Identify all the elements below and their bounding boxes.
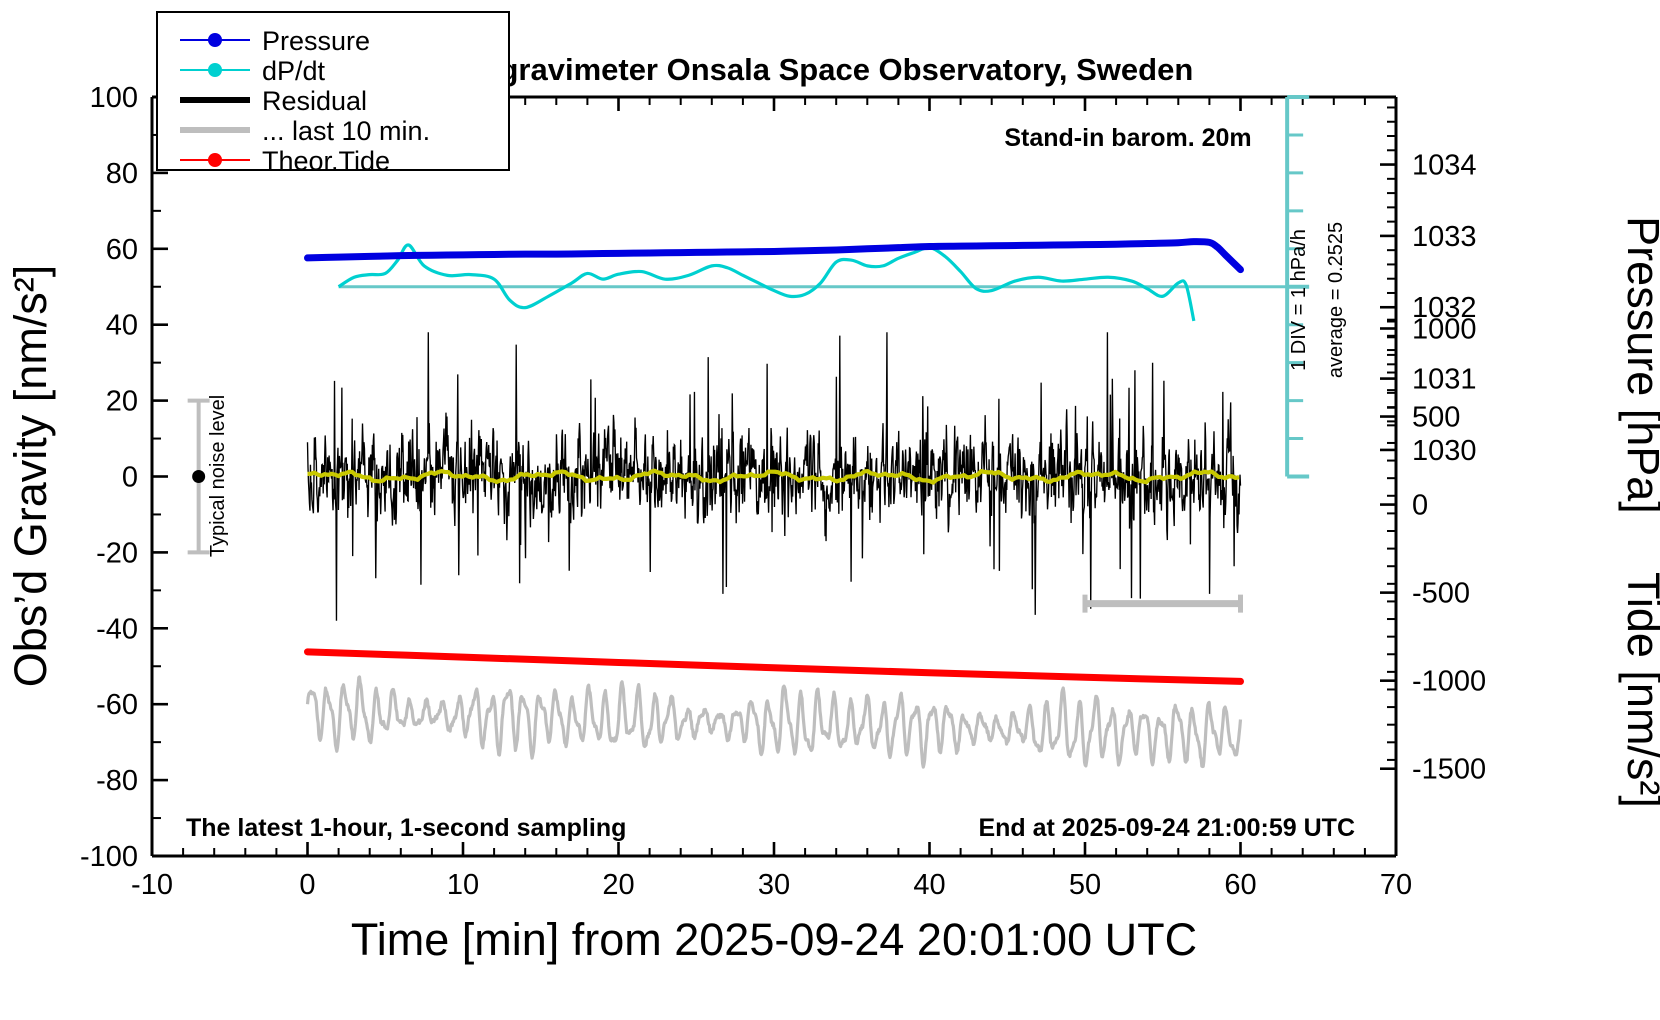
y-right-tide-tick-label: -1000 [1412,666,1486,698]
x-axis-title: Time [min] from 2025-09-24 20:01:00 UTC [351,914,1197,965]
y-left-tick-label: -100 [80,841,138,873]
legend-label: ... last 10 min. [262,116,430,146]
y-left-tick-label: 0 [122,462,138,494]
y-left-tick-label: 20 [106,386,138,418]
y-right-pressure-axis-title: Pressure [hPa] [1618,216,1660,514]
x-tick-label: 0 [299,869,315,901]
y-right-ticks [1380,107,1396,768]
legend-label: Residual [262,86,367,116]
x-tick-label: -10 [131,869,173,901]
last-10-min-span-bar [1085,595,1241,613]
legend-label: Theor.Tide [262,146,390,176]
gravimeter-figure: -10010203040506070 100806040200-20-40-60… [0,0,1660,1020]
x-tick-label: 10 [447,869,479,901]
y-left-tick-label: -60 [96,689,138,721]
data-traces [308,242,1295,768]
y-left-tick-label: 80 [106,158,138,190]
y-left-tick-label: 60 [106,234,138,266]
legend-label: dP/dt [262,56,326,86]
y-right-pressure-tick-label: 1033 [1412,221,1477,253]
plot-canvas: -10010203040506070 100806040200-20-40-60… [0,0,1660,1020]
plot-legend: PressuredP/dtResidual... last 10 min.The… [157,12,509,176]
y-left-tick-label: 100 [90,82,138,114]
x-tick-label: 50 [1069,869,1101,901]
y-right-tide-tick-label: 500 [1412,402,1460,434]
div-scale-annotation: 1 DIV = 1 hPa/h [1288,229,1310,371]
y-right-pressure-tick-label: 1030 [1412,435,1477,467]
legend-label: Pressure [262,26,370,56]
legend-swatch-marker [208,153,222,167]
y-left-tick-label: 40 [106,310,138,342]
noise-level-annotation: Typical noise level [207,395,229,557]
x-tick-label: 30 [758,869,790,901]
y-left-tick-label: -40 [96,613,138,645]
y-right-pressure-tick-label: 1034 [1412,150,1477,182]
y-left-tick-label: -20 [96,537,138,569]
trace-pressure [308,242,1241,270]
y-left-tick-label: -80 [96,765,138,797]
y-right-tide-tick-label: -1500 [1412,754,1486,786]
end-time-annotation: End at 2025-09-24 21:00:59 UTC [978,814,1355,842]
sampling-annotation: The latest 1-hour, 1-second sampling [186,814,626,842]
dpdt-average-annotation: average = 0.2525 [1325,222,1347,378]
trace-last-10-min [308,677,1241,767]
y-right-tide-tick-label: -500 [1412,578,1470,610]
y-right-tide-axis-title: Tide [nm/s²] [1618,572,1660,808]
y-left-axis-title: Obs’d Gravity [nm/s²] [5,265,56,688]
x-tick-label: 60 [1224,869,1256,901]
x-tick-label: 40 [913,869,945,901]
x-axis-tick-labels: -10010203040506070 [131,869,1412,901]
y-right-tide-tick-label: 1000 [1412,313,1477,345]
y-left-ticks [152,97,168,856]
standin-barometer-annotation: Stand-in barom. 20m [1004,124,1251,152]
y-left-tick-labels: 100806040200-20-40-60-80-100 [80,82,138,873]
legend-swatch-marker [208,33,222,47]
trace-theoretical-tide [308,652,1241,682]
y-right-tide-tick-label: 0 [1412,490,1428,522]
y-right-pressure-tick-label: 1031 [1412,364,1477,396]
x-tick-label: 20 [602,869,634,901]
legend-swatch-marker [208,63,222,77]
x-tick-label: 70 [1380,869,1412,901]
